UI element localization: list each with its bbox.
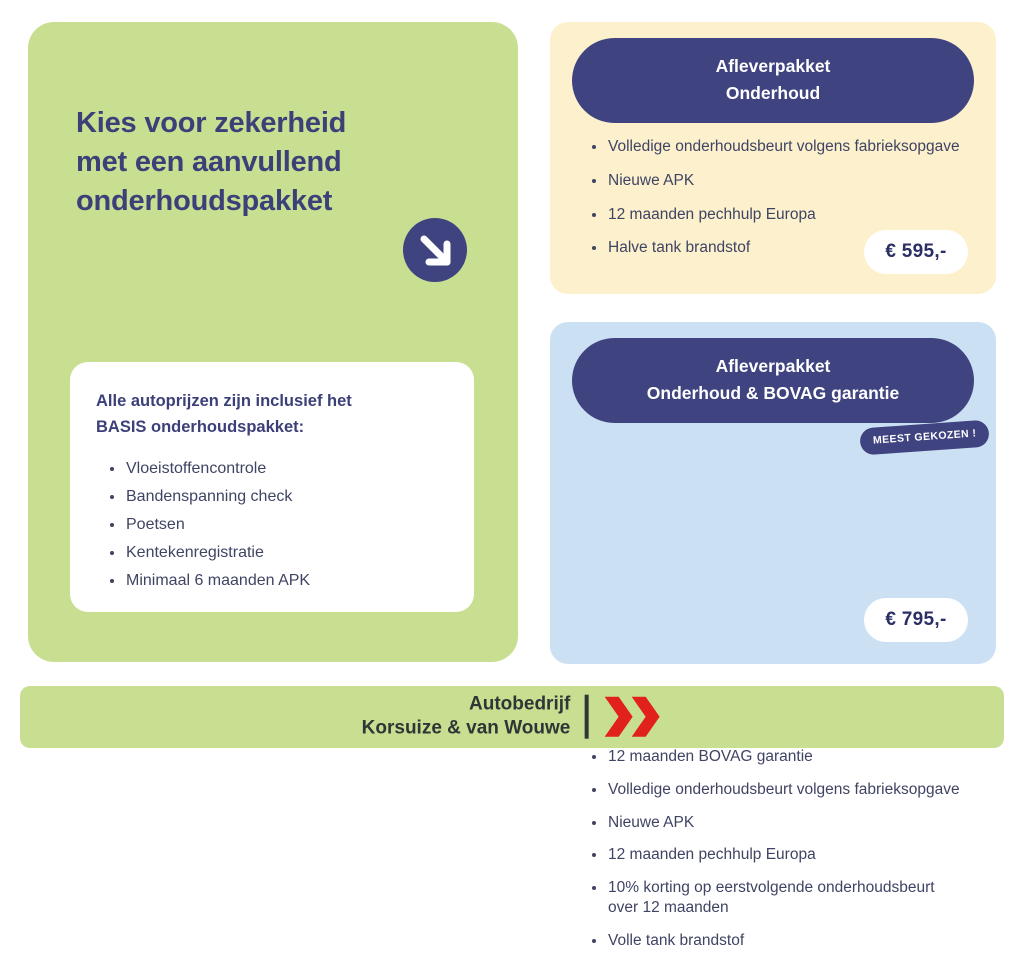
list-item: Nieuwe APK [608, 813, 1018, 833]
list-item-text: 10% korting op eerstvolgende onderhoudsb… [608, 878, 1018, 898]
promo-poster: Kies voor zekerheid met een aanvullend o… [0, 0, 1024, 768]
company-name: Autobedrijf Korsuize & van Wouwe [362, 693, 571, 742]
status-badge-most-chosen: MEEST GEKOZEN ! [859, 420, 990, 456]
package-feature-list-onderhoud-bovag: 12 maanden BOVAG garantie Volledige onde… [578, 747, 1018, 964]
hero-heading-line-2: met een aanvullend [76, 143, 456, 182]
list-item: 12 maanden BOVAG garantie [608, 747, 1018, 767]
hero-green-panel: Kies voor zekerheid met een aanvullend o… [28, 22, 518, 662]
company-name-line-2: Korsuize & van Wouwe [362, 717, 571, 741]
package-header-line-1: Afleverpakket [582, 53, 964, 80]
list-item: 12 maanden pechhulp Europa [608, 205, 1018, 225]
company-name-line-1: Autobedrijf [362, 693, 571, 717]
list-item: Volle tank brandstof [608, 931, 1018, 951]
list-item: 10% korting op eerstvolgende onderhoudsb… [608, 878, 1018, 918]
basis-feature-list: Vloeistoffencontrole Bandenspanning chec… [96, 455, 448, 595]
list-item: Kentekenregistratie [126, 539, 448, 567]
list-item: Nieuwe APK [608, 171, 1018, 191]
list-item: Volledige onderhoudsbeurt volgens fabrie… [608, 137, 1018, 157]
package-header-onderhoud-bovag: Afleverpakket Onderhoud & BOVAG garantie [572, 338, 974, 423]
logo-divider [584, 695, 588, 739]
package-header-onderhoud: Afleverpakket Onderhoud [572, 38, 974, 123]
list-item: Minimaal 6 maanden APK [126, 567, 448, 595]
basis-title-line-2: BASIS onderhoudspakket: [96, 414, 448, 440]
arrow-down-right-icon [403, 218, 467, 282]
list-item-text-continued: over 12 maanden [608, 898, 1018, 918]
list-item: Poetsen [126, 511, 448, 539]
price-badge-onderhoud-bovag: € 795,- [864, 598, 968, 642]
hero-heading-line-1: Kies voor zekerheid [76, 104, 456, 143]
company-logo: Autobedrijf Korsuize & van Wouwe [362, 693, 663, 742]
double-chevron-right-icon [602, 695, 662, 739]
list-item: Bandenspanning check [126, 483, 448, 511]
footer-bar: Autobedrijf Korsuize & van Wouwe [20, 686, 1004, 748]
package-header-line-2: Onderhoud & BOVAG garantie [582, 380, 964, 407]
list-item: Volledige onderhoudsbeurt volgens fabrie… [608, 780, 1018, 800]
basis-package-card: Alle autoprijzen zijn inclusief het BASI… [70, 362, 474, 612]
package-header-line-2: Onderhoud [582, 80, 964, 107]
list-item: 12 maanden pechhulp Europa [608, 845, 1018, 865]
list-item: Vloeistoffencontrole [126, 455, 448, 483]
package-header-line-1: Afleverpakket [582, 353, 964, 380]
page-title: Kies voor zekerheid met een aanvullend o… [76, 104, 456, 221]
hero-heading-line-3: onderhoudspakket [76, 182, 456, 221]
package-card-onderhoud[interactable]: Afleverpakket Onderhoud Volledige onderh… [550, 22, 996, 294]
price-badge-onderhoud: € 595,- [864, 230, 968, 274]
package-card-onderhoud-bovag[interactable]: Afleverpakket Onderhoud & BOVAG garantie… [550, 322, 996, 664]
basis-card-title: Alle autoprijzen zijn inclusief het BASI… [96, 388, 448, 441]
basis-title-line-1: Alle autoprijzen zijn inclusief het [96, 388, 448, 414]
